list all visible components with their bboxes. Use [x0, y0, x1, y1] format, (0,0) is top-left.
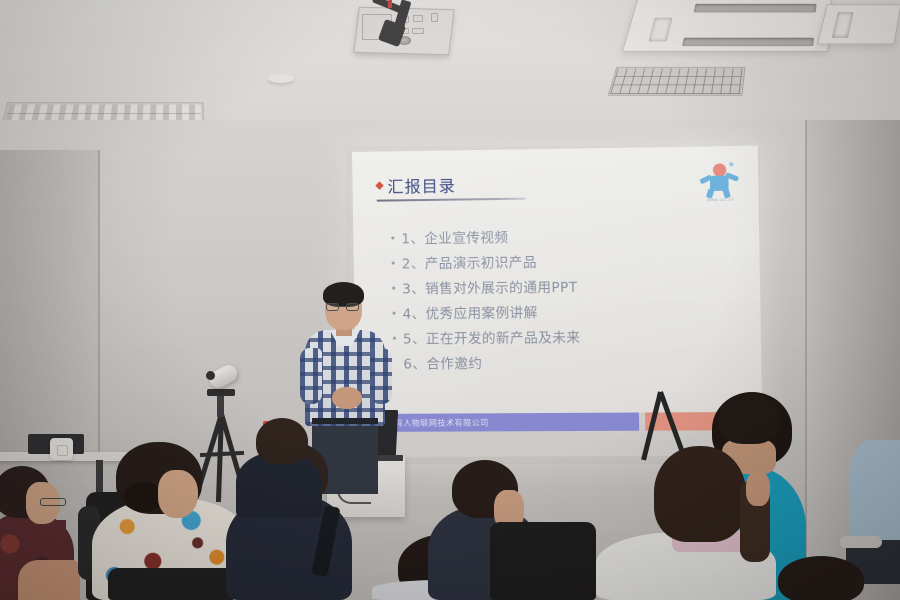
ceiling-ac-vent-right: [817, 4, 900, 44]
audience-hair: [718, 394, 780, 444]
audience-hair: [654, 446, 746, 542]
bullet-dot-icon: [392, 287, 395, 290]
bullet-text: 5、正在开发的新产品及未来: [403, 326, 581, 348]
audience-hair: [256, 418, 308, 464]
chair-armrest: [840, 536, 882, 548]
chair: [108, 568, 236, 600]
bullet-text: 4、优秀应用案例讲解: [402, 301, 537, 322]
slide-bullet-list: 1、企业宣传视频 2、产品演示初识产品 3、销售对外展示的通用PPT 4、优秀应…: [391, 225, 581, 378]
list-item: 1、企业宣传视频: [391, 225, 579, 252]
bullet-text: 6、合作邀约: [403, 352, 482, 373]
audience-ear: [746, 472, 770, 506]
smoke-detector: [268, 74, 294, 83]
projector-cable-clip: [388, 0, 392, 8]
chair: [490, 522, 596, 600]
audience-hair: [778, 556, 864, 600]
bullet-dot-icon: [392, 262, 395, 265]
bullet-text: 1、企业宣传视频: [401, 226, 508, 247]
audience-neck-skin: [158, 470, 198, 518]
tripod-head: [207, 389, 235, 396]
company-logo: www.usr.cn: [698, 162, 742, 207]
slide-title: 汇报目录: [387, 172, 456, 197]
logo-accent-dot-icon: [729, 162, 733, 166]
ceiling-return-grille: [607, 67, 745, 96]
footer-blue-bar: 南有人物联网技术有限公司: [356, 413, 639, 432]
presenter-arm-left: [300, 348, 322, 404]
presenter-hands: [332, 387, 362, 409]
title-underline: [377, 198, 526, 202]
logo-url-text: www.usr.cn: [699, 197, 742, 203]
tripod-column: [217, 395, 224, 417]
audience-hands: [18, 560, 80, 600]
presenter-belt: [312, 418, 378, 424]
bullet-text: 3、销售对外展示的通用PPT: [402, 276, 578, 298]
white-device-on-table: [50, 438, 73, 460]
slide-surface: 汇报目录 1、企业宣传视频 2、产品演示初识产品 3、销售对外展示的通用PPT: [352, 146, 762, 414]
list-item: 4、优秀应用案例讲解: [392, 301, 580, 328]
audience-glasses: [40, 498, 66, 506]
slide-title-row: 汇报目录: [376, 172, 456, 197]
conference-room-scene: 汇报目录 1、企业宣传视频 2、产品演示初识产品 3、销售对外展示的通用PPT: [0, 0, 900, 600]
bullet-dot-icon: [391, 236, 394, 239]
list-item: 6、合作邀约: [393, 351, 581, 377]
list-item: 2、产品演示初识产品: [392, 250, 580, 277]
presenter-glasses: [326, 303, 361, 312]
bullet-dot-icon: [393, 337, 396, 340]
presenter-arm-right: [370, 348, 392, 404]
ceiling-ac-cassette: [622, 0, 832, 52]
diamond-bullet-icon: [375, 181, 383, 189]
audience-light-blue-shirt: [850, 440, 900, 550]
projection-screen: 汇报目录 1、企业宣传视频 2、产品演示初识产品 3、销售对外展示的通用PPT: [352, 146, 763, 457]
bullet-text: 2、产品演示初识产品: [402, 251, 537, 273]
list-item: 3、销售对外展示的通用PPT: [392, 276, 580, 303]
list-item: 5、正在开发的新产品及未来: [393, 326, 581, 353]
bullet-dot-icon: [393, 312, 396, 315]
